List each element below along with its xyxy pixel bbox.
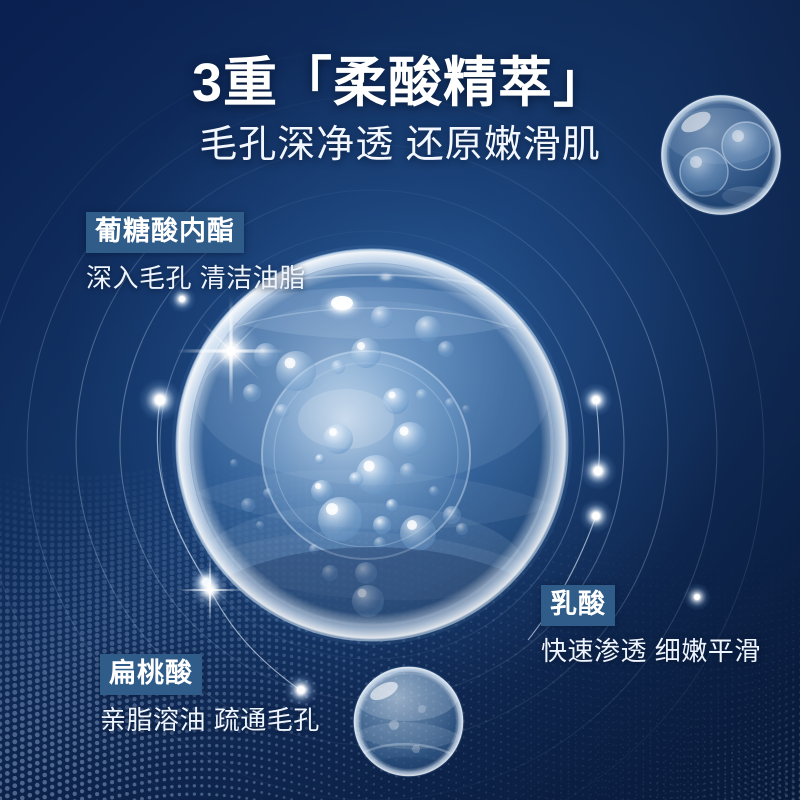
ingredient-description: 亲脂溶油 疏通毛孔	[100, 704, 320, 736]
page-subtitle: 毛孔深净透 还原嫩滑肌	[0, 122, 800, 168]
heading-block: 3重「柔酸精萃」 毛孔深净透 还原嫩滑肌	[0, 52, 800, 168]
ingredient-tag: 葡糖酸内酯	[86, 212, 244, 253]
ingredient-description: 快速渗透 细嫩平滑	[541, 635, 761, 667]
ingredient-tag: 乳酸	[541, 585, 615, 626]
page-title: 3重「柔酸精萃」	[0, 52, 800, 114]
product-poster: 3重「柔酸精萃」 毛孔深净透 还原嫩滑肌 葡糖酸内酯 深入毛孔 清洁油脂 乳酸 …	[0, 0, 800, 800]
ingredient-callout-mandelic-acid: 扁桃酸 亲脂溶油 疏通毛孔	[100, 654, 320, 736]
ingredient-callout-gluconolactone: 葡糖酸内酯 深入毛孔 清洁油脂	[86, 212, 306, 294]
ingredient-callout-lactic-acid: 乳酸 快速渗透 细嫩平滑	[541, 585, 761, 667]
ingredient-tag: 扁桃酸	[100, 654, 202, 695]
ingredient-description: 深入毛孔 清洁油脂	[86, 262, 306, 294]
